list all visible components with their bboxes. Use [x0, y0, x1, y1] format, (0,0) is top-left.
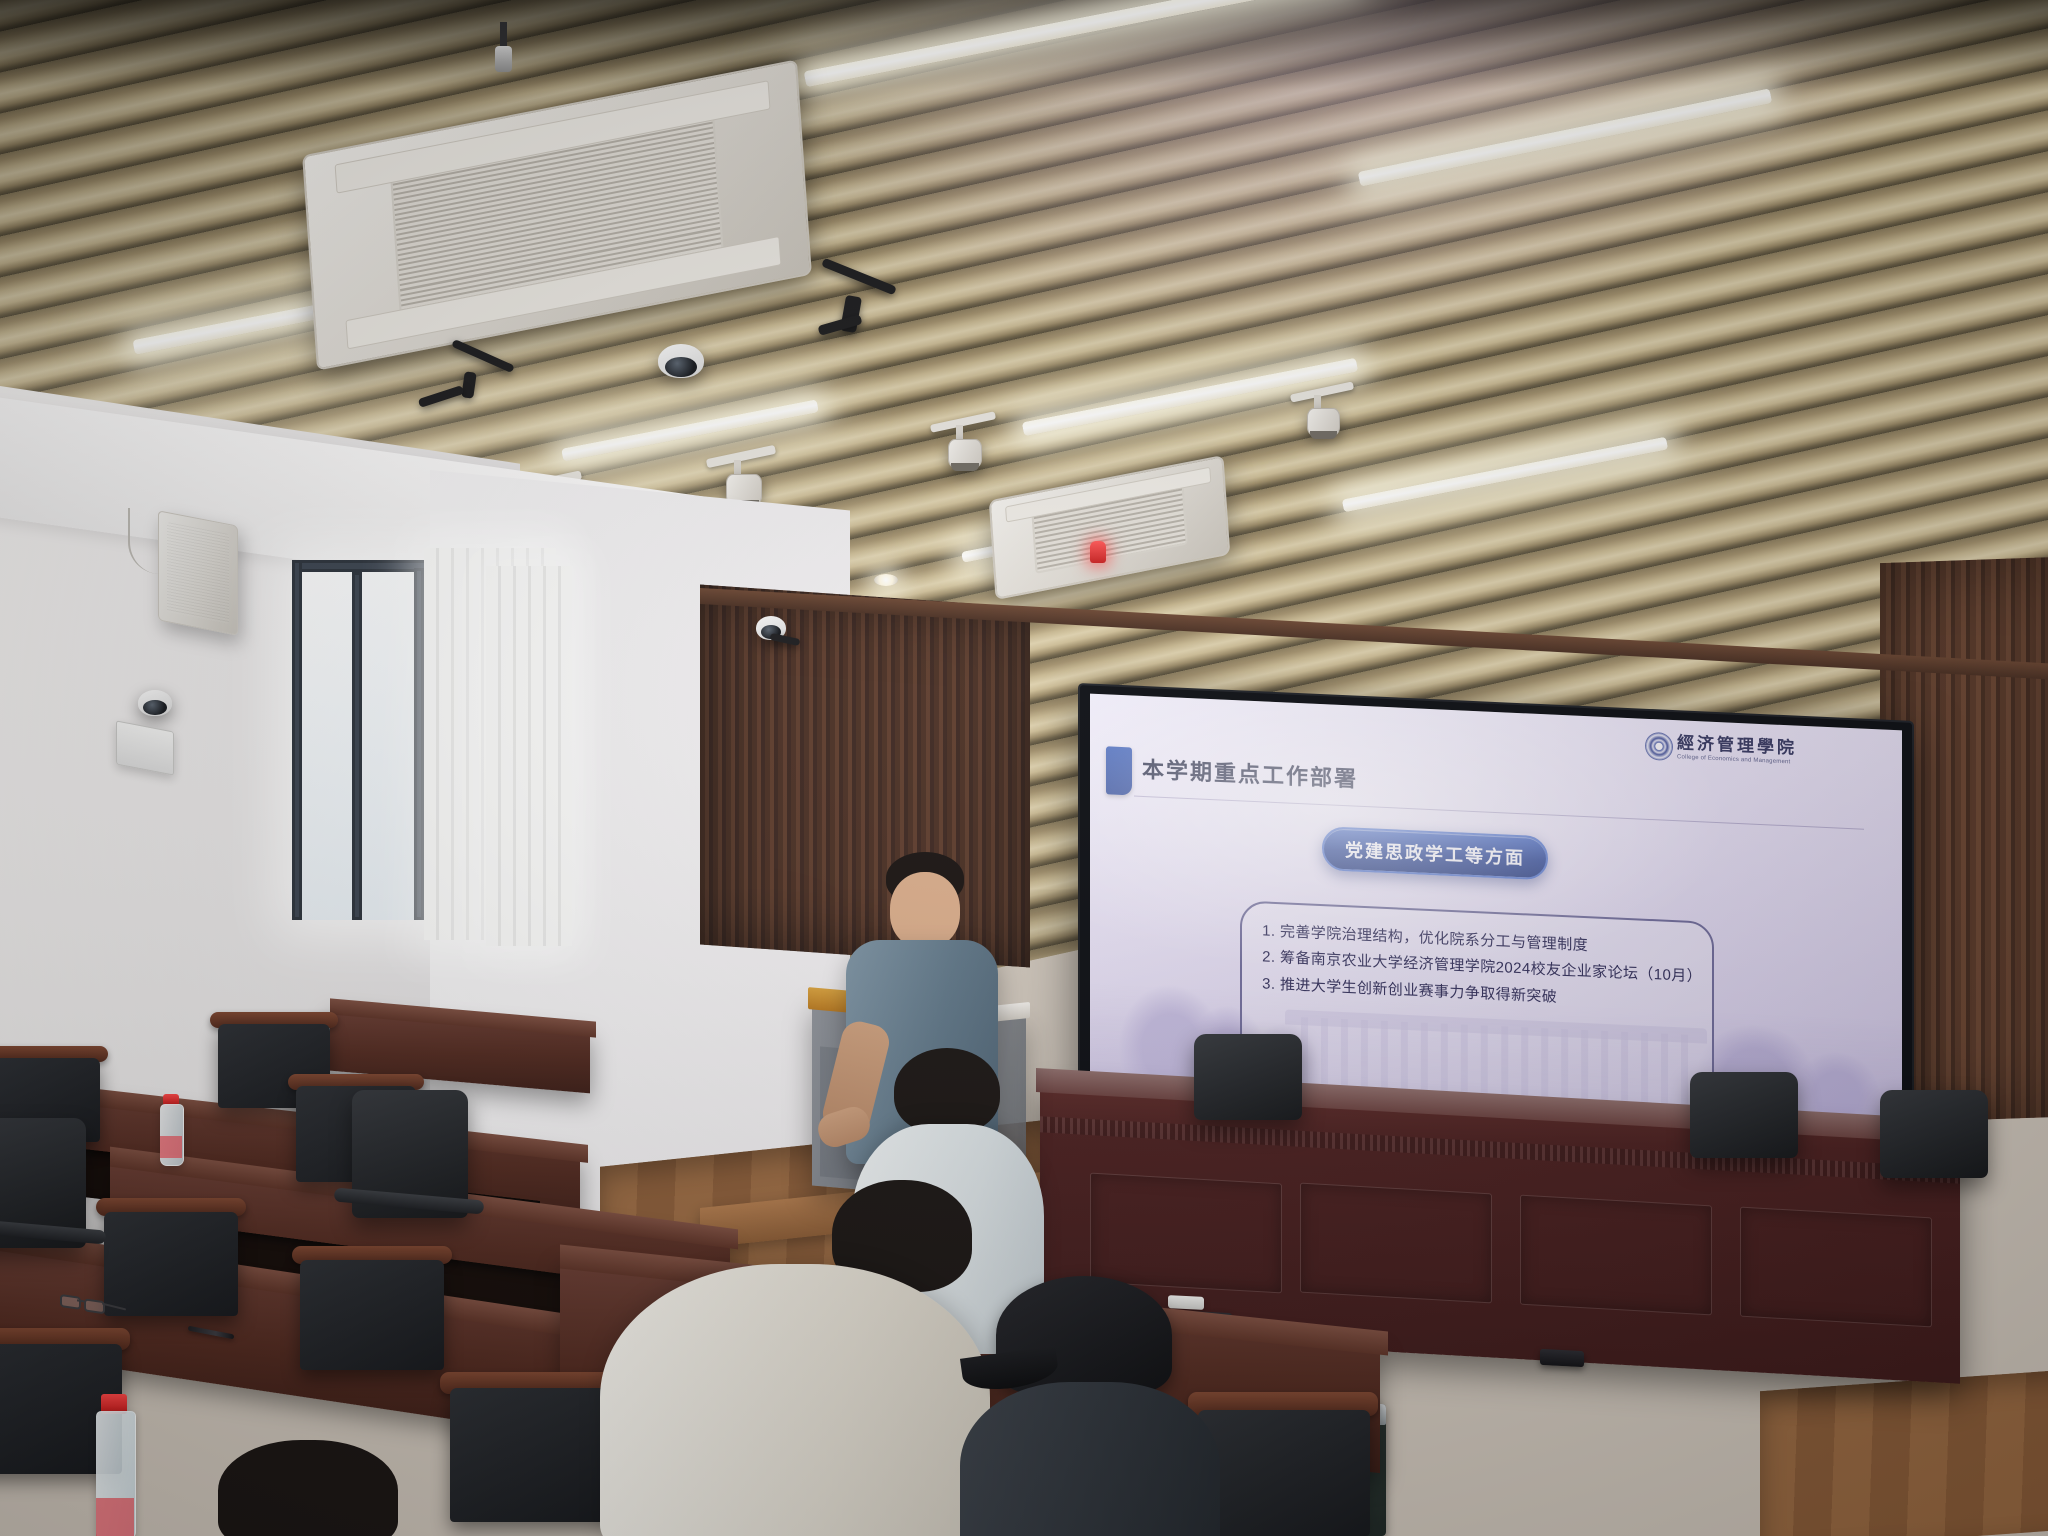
spotlight-head [1307, 408, 1340, 436]
wall-speaker [158, 510, 238, 636]
spotlight-head [948, 439, 982, 468]
slide-title: 本学期重点工作部署 [1142, 752, 1358, 794]
fire-alarm-beacon [1090, 541, 1106, 563]
wood-floor-right [1760, 1369, 2048, 1536]
chair-back [1198, 1410, 1370, 1536]
bottle-label [96, 1498, 134, 1536]
chair-back [1880, 1090, 1988, 1178]
head-table-panel [1740, 1207, 1932, 1328]
attendee-hair [894, 1048, 1000, 1134]
vertical-blinds [486, 566, 572, 946]
sprinkler-head [488, 22, 518, 82]
window-frame-right [414, 568, 424, 920]
presenter-clicker[interactable] [1540, 1349, 1584, 1367]
sprinkler-stem [500, 22, 507, 48]
university-seal-icon [1646, 733, 1672, 760]
chair-back [1194, 1034, 1302, 1120]
sprinkler-nozzle [495, 46, 512, 72]
chair-back [450, 1388, 622, 1522]
glasses-lens [60, 1294, 81, 1310]
presenter-head [890, 872, 960, 948]
wood-slat-wall-panel [700, 584, 1030, 967]
attendee-hair [218, 1440, 398, 1536]
dome-camera [658, 344, 704, 378]
chair-back [104, 1212, 238, 1316]
chair-back [300, 1260, 444, 1370]
attendee-torso [960, 1382, 1220, 1536]
bottle-label [160, 1136, 182, 1158]
dome-camera [138, 690, 172, 716]
glasses-lens [84, 1298, 105, 1314]
window-frame-mullion [352, 572, 362, 920]
head-table-panel [1520, 1195, 1712, 1316]
slide-section-pill: 党建思政学工等方面 [1322, 826, 1548, 880]
chair-back [1690, 1072, 1798, 1158]
conference-room-photo: 經济管理學院 College of Economics and Manageme… [0, 0, 2048, 1536]
head-table-panel [1090, 1173, 1282, 1294]
college-logo: 經济管理學院 College of Economics and Manageme… [1646, 733, 1797, 766]
window-frame-left [292, 560, 302, 920]
slide-title-underline [1134, 796, 1864, 830]
recessed-downlight [874, 574, 898, 586]
head-table-panel [1300, 1183, 1492, 1304]
slide-title-tab [1106, 746, 1132, 795]
presenter-clicker[interactable] [1168, 1295, 1204, 1310]
attendee-torso [600, 1264, 990, 1536]
